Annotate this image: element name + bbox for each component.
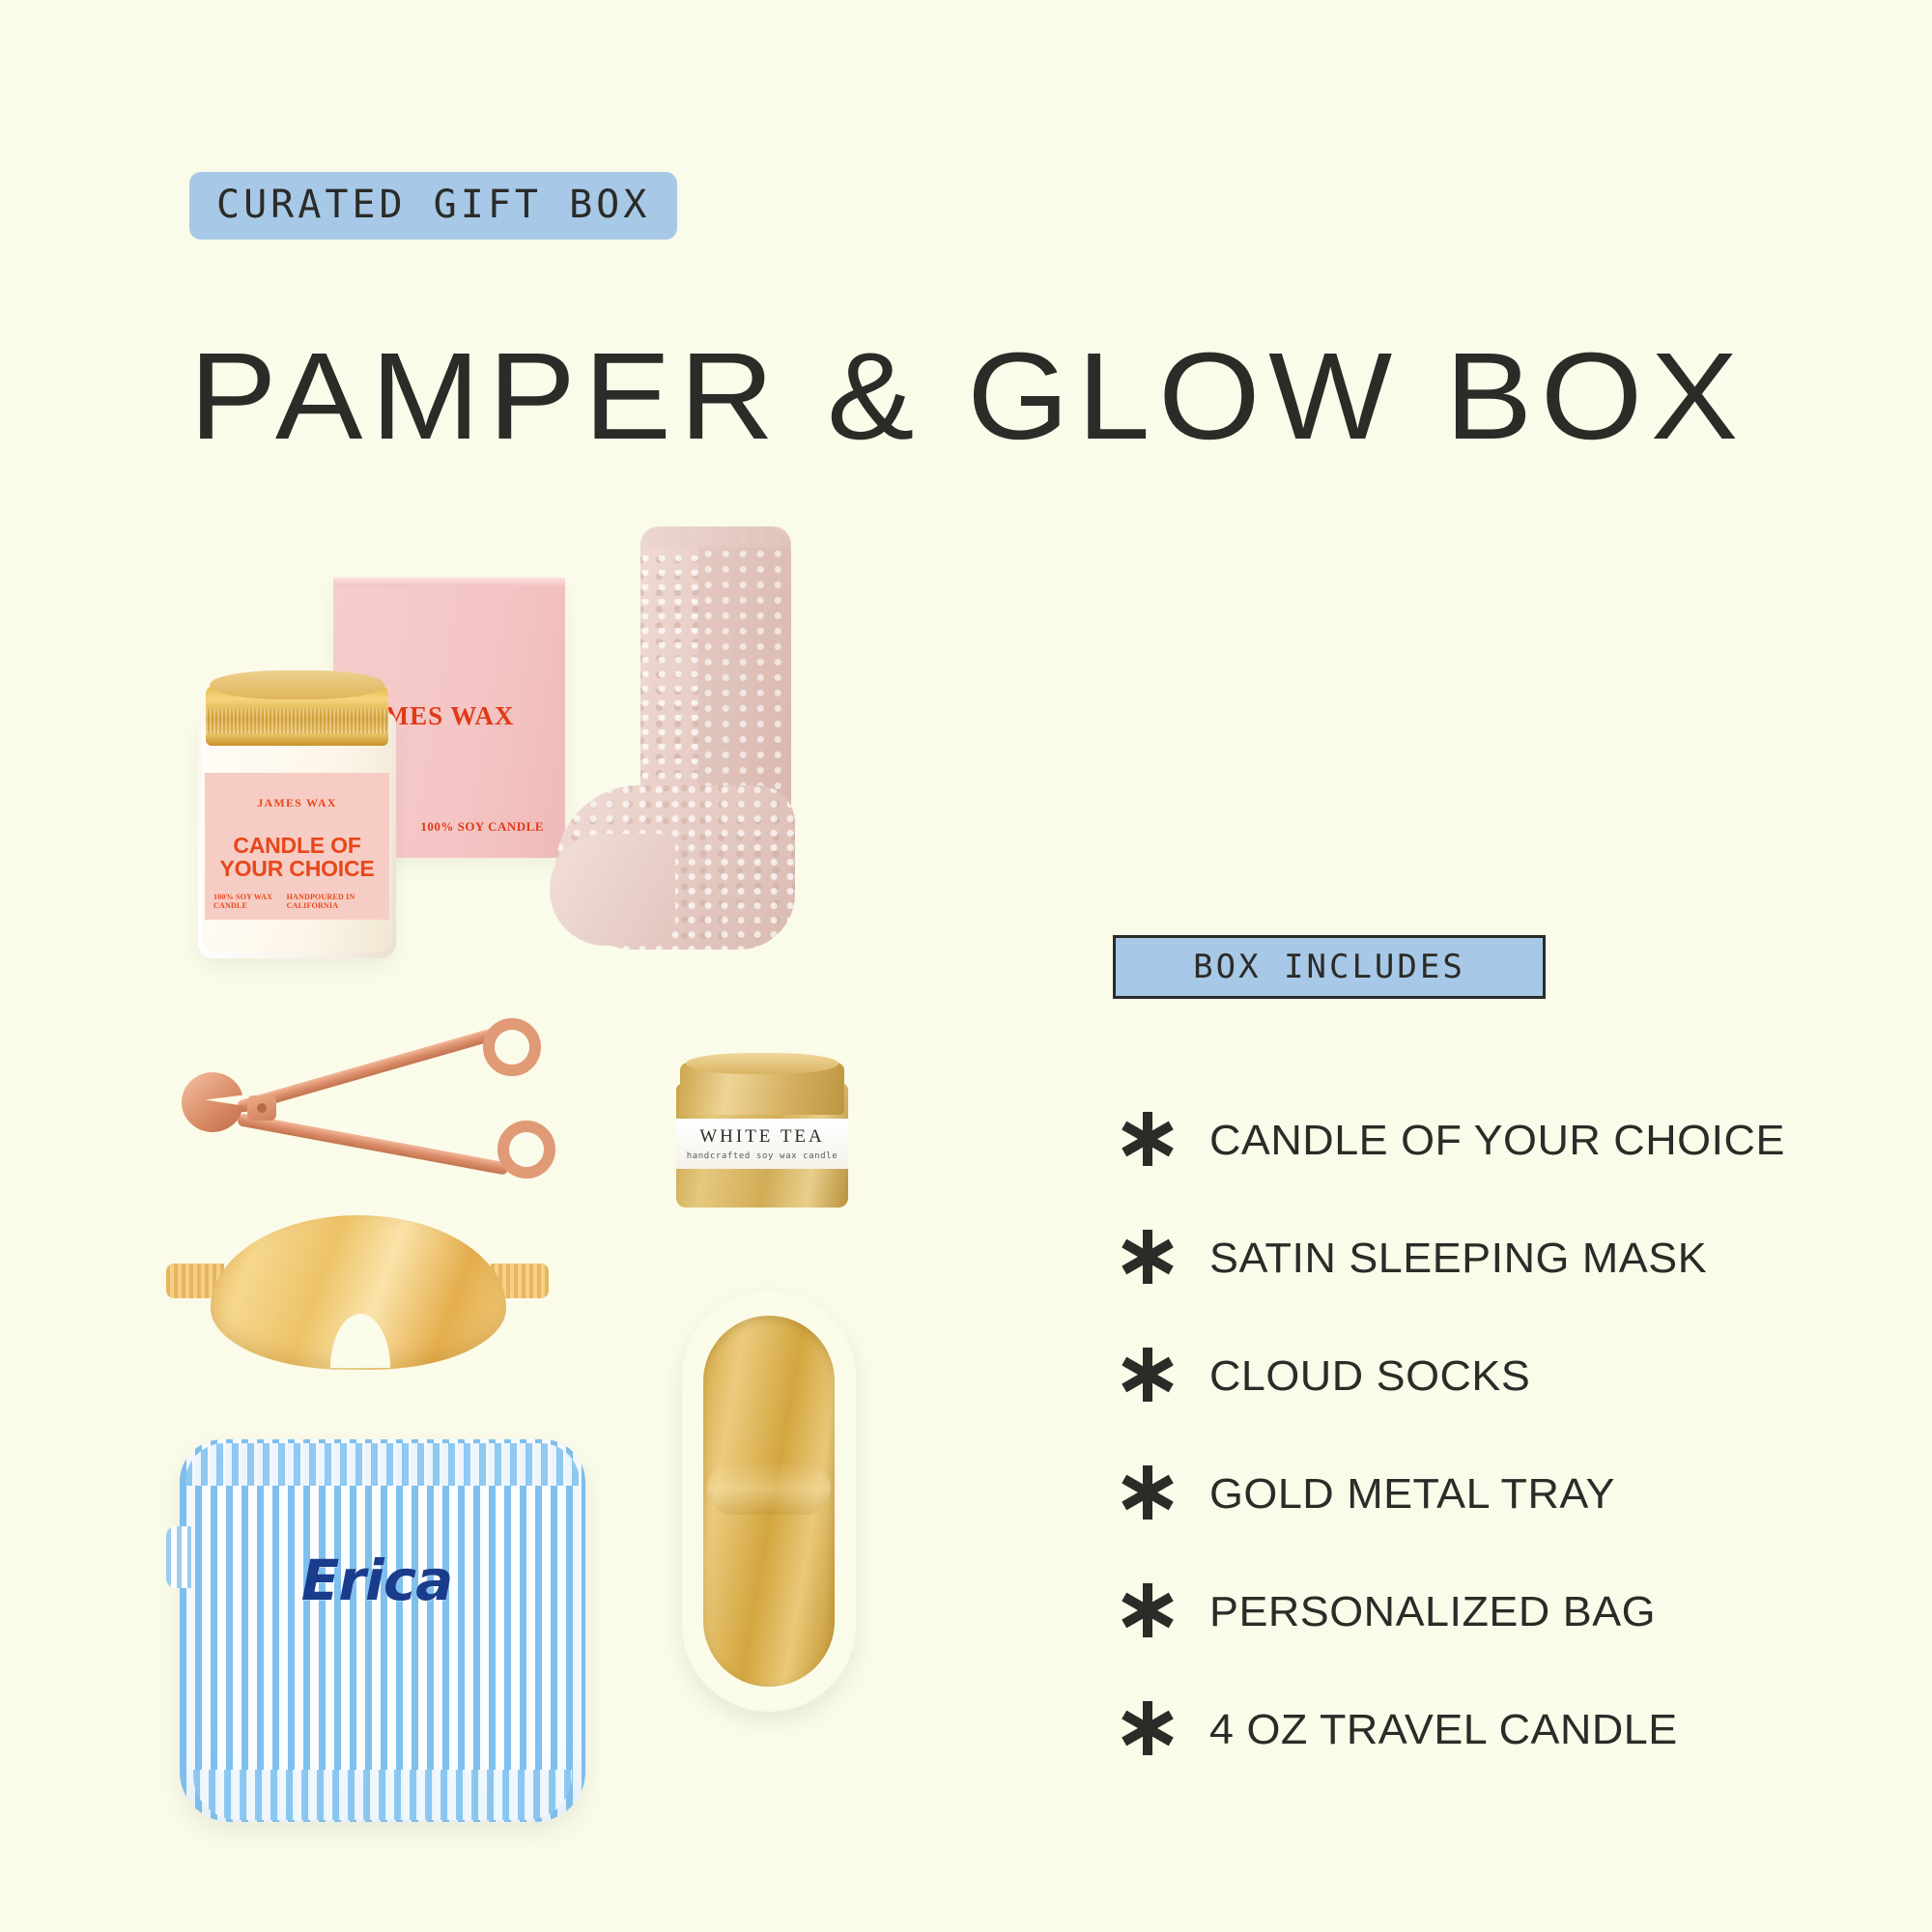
- jar-gold-lid: [206, 686, 388, 746]
- bag-bottom-panel: [193, 1770, 572, 1820]
- list-item-label: CANDLE OF YOUR CHOICE: [1209, 1117, 1785, 1165]
- list-item: PERSONALIZED BAG: [1113, 1553, 1866, 1671]
- candle-jar: JAMES WAX CANDLE OF YOUR CHOICE 100% SOY…: [198, 668, 396, 958]
- box-includes-list: CANDLE OF YOUR CHOICE SATIN SLEEPING MAS…: [1113, 1082, 1866, 1789]
- tin-scent-label: WHITE TEA: [699, 1126, 825, 1148]
- cloud-socks: [555, 526, 816, 1048]
- travel-candle-tin: WHITE TEA handcrafted soy wax candle: [676, 1063, 848, 1217]
- trimmer-arm-upper: [236, 1027, 499, 1114]
- asterisk-icon: [1113, 1227, 1182, 1287]
- tin-label: WHITE TEA handcrafted soy wax candle: [676, 1119, 848, 1169]
- gift-box-poster: CURATED GIFT BOX PAMPER & GLOW BOX MES W…: [0, 0, 1932, 1932]
- box-includes-label: BOX INCLUDES: [1193, 948, 1465, 986]
- tin-descriptor-label: handcrafted soy wax candle: [687, 1151, 838, 1161]
- mask-body: [211, 1215, 506, 1370]
- tin-body: [676, 1084, 848, 1207]
- jar-footer: 100% SOY WAX CANDLE HANDPOURED IN CALIFO…: [205, 893, 389, 910]
- carton-subtitle-label: 100% SOY CANDLE: [420, 819, 544, 835]
- eyebrow-label: CURATED GIFT BOX: [216, 183, 650, 227]
- jar-headline: CANDLE OF YOUR CHOICE: [219, 834, 374, 881]
- sock-toe: [550, 834, 675, 946]
- sock-leg-back: [698, 530, 791, 845]
- gold-metal-tray: [682, 1291, 856, 1712]
- bag-zipper-pull: [166, 1526, 191, 1588]
- tray-inner-well: [703, 1316, 835, 1687]
- list-item: GOLD METAL TRAY: [1113, 1435, 1866, 1553]
- james-wax-carton: MES WAX 100% SOY CANDLE: [333, 578, 565, 858]
- list-item: SATIN SLEEPING MASK: [1113, 1200, 1866, 1318]
- mask-strap-right: [491, 1264, 549, 1298]
- jar-wax: [202, 721, 392, 952]
- list-item-label: CLOUD SOCKS: [1209, 1352, 1530, 1401]
- tray-sheen: [707, 1463, 831, 1515]
- eyebrow-badge: CURATED GIFT BOX: [189, 172, 677, 240]
- trimmer-ring-upper: [483, 1018, 541, 1076]
- page-title: PAMPER & GLOW BOX: [189, 332, 1747, 462]
- jar-footer-right: HANDPOURED IN CALIFORNIA: [287, 893, 381, 910]
- sock-leg: [640, 526, 790, 845]
- sock-cuff: [640, 526, 791, 548]
- asterisk-icon: [1113, 1345, 1182, 1405]
- list-item-label: PERSONALIZED BAG: [1209, 1588, 1656, 1636]
- trimmer-ring-lower: [497, 1121, 555, 1179]
- list-item-label: GOLD METAL TRAY: [1209, 1470, 1615, 1519]
- trimmer-pivot: [247, 1095, 276, 1121]
- bag-top-panel: [185, 1443, 580, 1486]
- jar-label: JAMES WAX CANDLE OF YOUR CHOICE 100% SOY…: [205, 773, 389, 920]
- carton-brand-label: MES WAX: [333, 701, 565, 731]
- satin-sleeping-mask: [155, 1207, 560, 1381]
- sock-foot: [555, 785, 795, 950]
- jar-brand-label: JAMES WAX: [257, 796, 336, 810]
- asterisk-icon: [1113, 1463, 1182, 1522]
- mask-nose-notch: [330, 1314, 390, 1368]
- bag-body: [180, 1439, 585, 1822]
- box-includes-badge: BOX INCLUDES: [1113, 935, 1546, 999]
- bag-monogram-label: Erica: [155, 1548, 599, 1613]
- asterisk-icon: [1113, 1580, 1182, 1640]
- asterisk-icon: [1113, 1109, 1182, 1169]
- list-item: CLOUD SOCKS: [1113, 1318, 1866, 1435]
- personalized-bag: Erica: [155, 1439, 599, 1826]
- wick-trimmer: [155, 1012, 560, 1196]
- jar-headline-line1: CANDLE OF: [219, 834, 374, 857]
- asterisk-icon: [1113, 1698, 1182, 1758]
- jar-footer-left: 100% SOY WAX CANDLE: [213, 893, 287, 910]
- list-item-label: 4 OZ TRAVEL CANDLE: [1209, 1706, 1678, 1754]
- jar-glass: [198, 713, 396, 958]
- list-item: 4 OZ TRAVEL CANDLE: [1113, 1671, 1866, 1789]
- mask-strap-left: [166, 1264, 224, 1298]
- jar-headline-line2: YOUR CHOICE: [219, 857, 374, 880]
- trimmer-head: [182, 1072, 243, 1132]
- tin-lid: [680, 1063, 844, 1115]
- list-item: CANDLE OF YOUR CHOICE: [1113, 1082, 1866, 1200]
- trimmer-arm-lower: [237, 1113, 510, 1176]
- list-item-label: SATIN SLEEPING MASK: [1209, 1235, 1707, 1283]
